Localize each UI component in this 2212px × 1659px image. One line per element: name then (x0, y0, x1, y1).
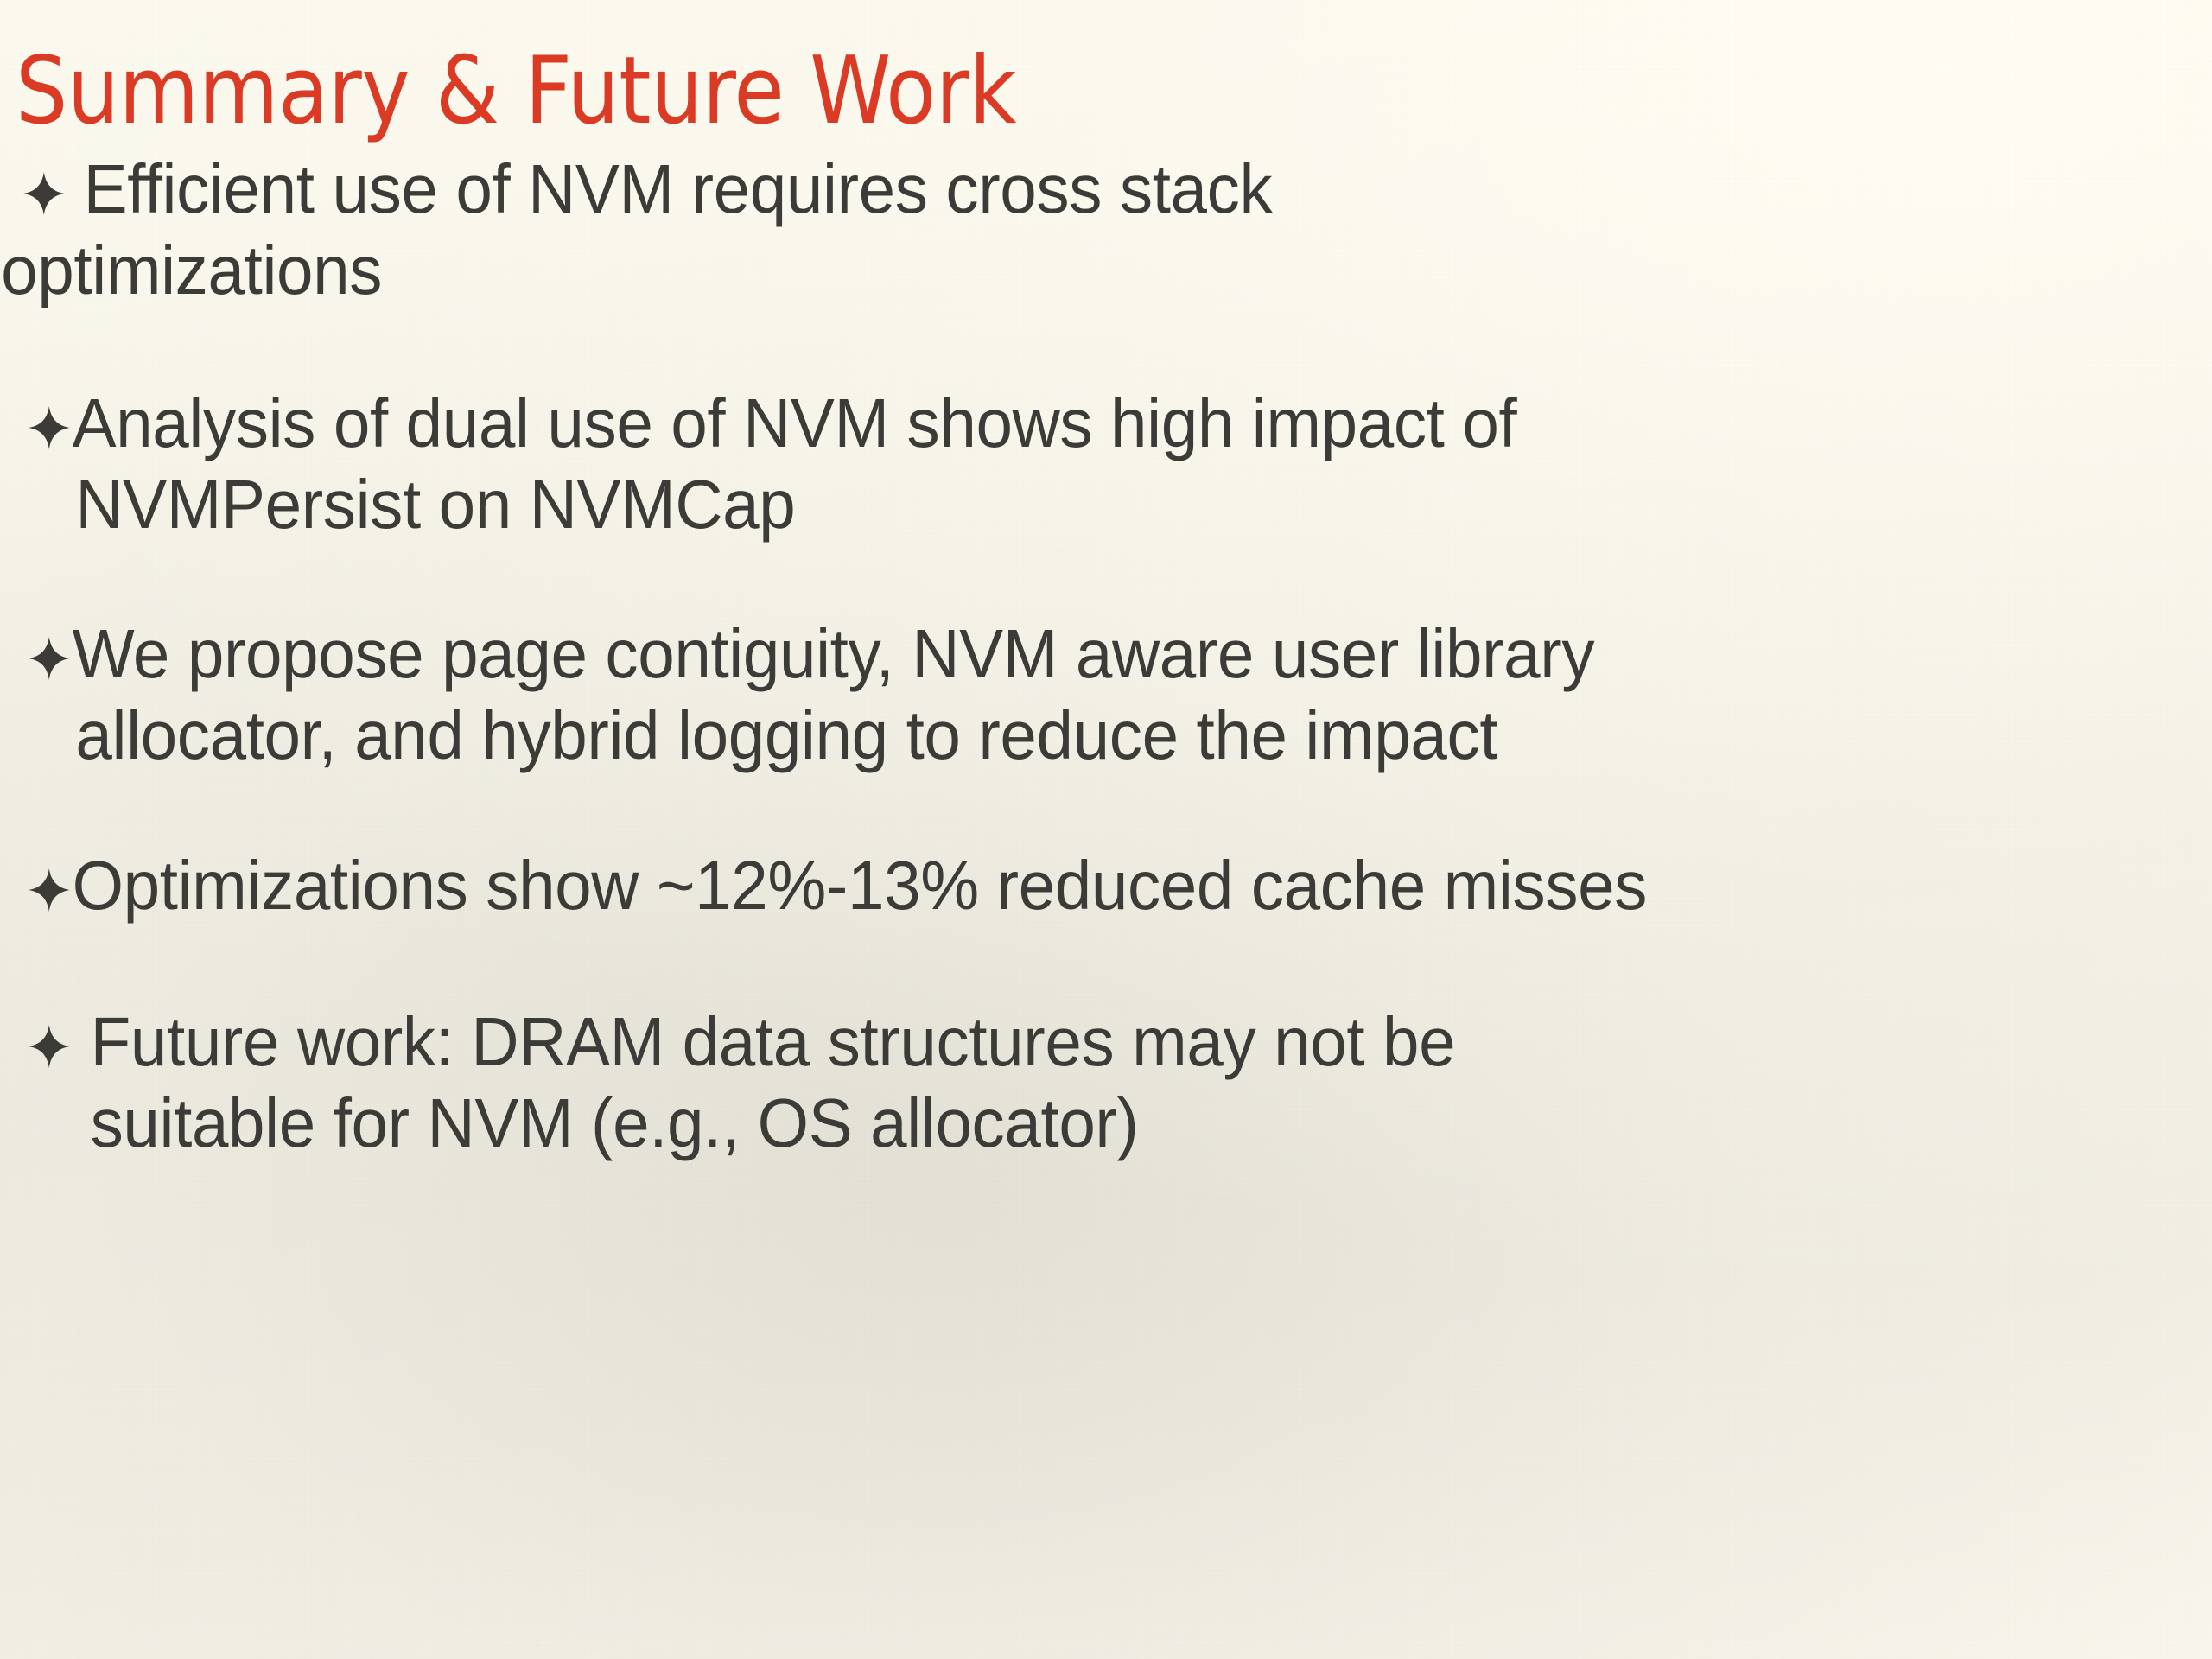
bullet-item-3: We propose page contiguity, NVM aware us… (28, 613, 2113, 777)
bullet-line-primary: Analysis of dual use of NVM shows high i… (28, 383, 2106, 464)
bullet-line-primary: We propose page contiguity, NVM aware us… (28, 613, 2106, 695)
bullet-text-3-line-1: We propose page contiguity, NVM aware us… (73, 615, 1595, 692)
four-pointed-star-icon (28, 405, 71, 450)
bullet-line-primary: Efficient use of NVM requires cross stac… (22, 149, 2105, 230)
presentation-slide: Summary & Future Work Efficient use of N… (0, 0, 2212, 1659)
bullet-text-5-line-1: Future work: DRAM data structures may no… (91, 1003, 1456, 1080)
four-pointed-star-icon (28, 636, 71, 681)
bullet-item-2: Analysis of dual use of NVM shows high i… (28, 383, 2113, 546)
page-title: Summary & Future Work (16, 41, 1016, 143)
bullet-item-5: Future work: DRAM data structures may no… (28, 1001, 2113, 1165)
four-pointed-star-icon (28, 1024, 71, 1069)
bullet-text-5-line-2: suitable for NVM (e.g., OS allocator) (91, 1083, 2106, 1164)
bullet-text-1-line-2: optimizations (1, 230, 2105, 311)
bullet-item-1: Efficient use of NVM requires cross stac… (22, 149, 2113, 312)
bullet-line-primary: Future work: DRAM data structures may no… (28, 1001, 2106, 1083)
bullet-text-4-line-1: Optimizations show ~12%-13% reduced cach… (73, 847, 1648, 924)
bullet-text-1-line-1: Efficient use of NVM requires cross stac… (84, 150, 1273, 227)
bullet-text-2-line-2: NVMPersist on NVMCap (75, 464, 2105, 545)
bullet-text-3-line-2: allocator, and hybrid logging to reduce … (75, 695, 2105, 776)
bullet-list: Efficient use of NVM requires cross stac… (0, 149, 2212, 1165)
bullet-item-4: Optimizations show ~12%-13% reduced cach… (28, 845, 2113, 926)
four-pointed-star-icon (28, 868, 71, 912)
bullet-line-primary: Optimizations show ~12%-13% reduced cach… (28, 845, 2106, 926)
four-pointed-star-icon (22, 171, 66, 216)
bullet-text-2-line-1: Analysis of dual use of NVM shows high i… (73, 385, 1517, 461)
